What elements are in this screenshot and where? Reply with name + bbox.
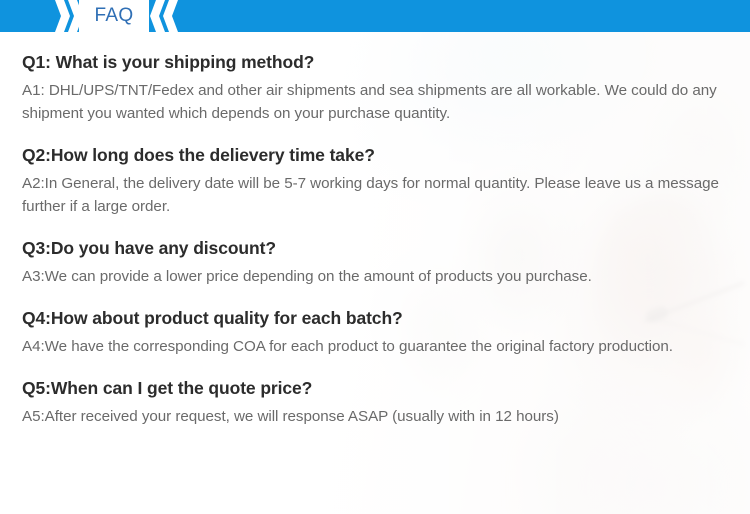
chevron-double-left-icon <box>163 0 178 32</box>
faq-item: Q4:How about product quality for each ba… <box>22 307 730 358</box>
faq-list: Q1: What is your shipping method? A1: DH… <box>0 32 750 428</box>
chevron-double-right-icon <box>55 0 70 32</box>
faq-answer: A5:After received your request, we will … <box>22 405 728 428</box>
faq-header-banner: FAQ <box>0 0 750 32</box>
faq-question: Q1: What is your shipping method? <box>22 51 730 75</box>
faq-item: Q2:How long does the delievery time take… <box>22 144 730 218</box>
faq-answer: A4:We have the corresponding COA for eac… <box>22 335 728 358</box>
chevron-double-left-icon <box>150 0 165 32</box>
faq-question: Q2:How long does the delievery time take… <box>22 144 730 168</box>
faq-item: Q1: What is your shipping method? A1: DH… <box>22 51 730 125</box>
faq-answer: A2:In General, the delivery date will be… <box>22 172 728 218</box>
faq-answer: A3:We can provide a lower price dependin… <box>22 265 728 288</box>
faq-page: FAQ Q1: What is your shipping method? A1… <box>0 0 750 514</box>
faq-question: Q4:How about product quality for each ba… <box>22 307 730 331</box>
faq-item: Q3:Do you have any discount? A3:We can p… <box>22 237 730 288</box>
faq-answer: A1: DHL/UPS/TNT/Fedex and other air ship… <box>22 79 728 125</box>
faq-question: Q5:When can I get the quote price? <box>22 377 730 401</box>
faq-question: Q3:Do you have any discount? <box>22 237 730 261</box>
faq-item: Q5:When can I get the quote price? A5:Af… <box>22 377 730 428</box>
page-title: FAQ <box>79 0 149 32</box>
